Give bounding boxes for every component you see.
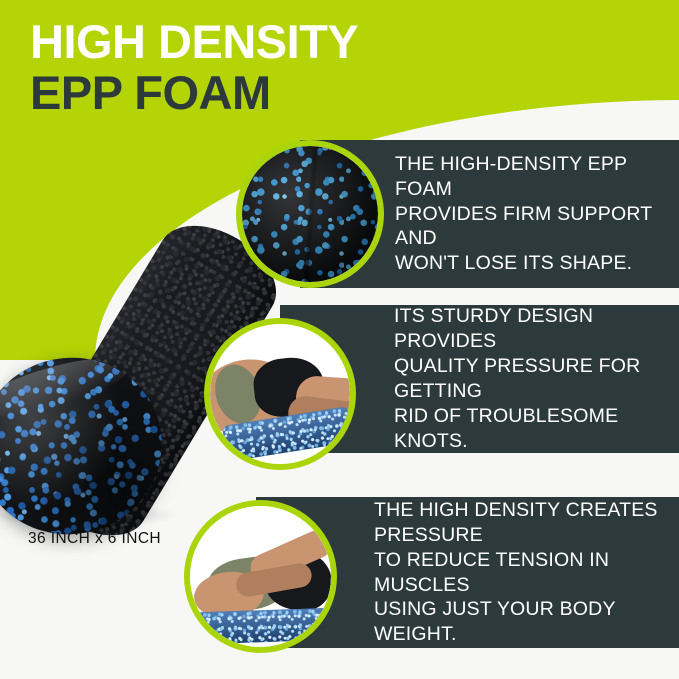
page-title: HIGH DENSITY EPP FOAM	[30, 18, 358, 116]
back-on-roller-photo	[190, 506, 331, 647]
product-dimension-label: 36 INCH x 6 INCH	[28, 530, 161, 548]
feature-text-1: THE HIGH-DENSITY EPP FOAM PROVIDES FIRM …	[395, 152, 679, 277]
foam-shading-overlay	[242, 146, 378, 282]
title-line-1: HIGH DENSITY	[30, 18, 358, 65]
feature-text-3: THE HIGH DENSITY CREATES PRESSURE TO RED…	[374, 498, 679, 648]
product-infographic: HIGH DENSITY EPP FOAM THE HIGH-DENSITY E…	[0, 0, 679, 679]
legs-on-roller-photo	[210, 324, 350, 464]
feature-image-3	[184, 500, 337, 653]
foam-texture-closeup-photo	[242, 146, 378, 282]
feature-image-2	[204, 318, 356, 470]
scene-backdrop-2	[210, 324, 350, 464]
title-line-2: EPP FOAM	[30, 69, 358, 116]
roller-shading	[190, 607, 331, 645]
scene-backdrop-3	[190, 506, 331, 647]
product-photo-foam-roller	[0, 250, 208, 535]
feature-image-1	[236, 140, 384, 288]
blue-foam-roller-shape	[190, 607, 331, 645]
feature-text-2: ITS STURDY DESIGN PROVIDES QUALITY PRESS…	[394, 304, 679, 454]
